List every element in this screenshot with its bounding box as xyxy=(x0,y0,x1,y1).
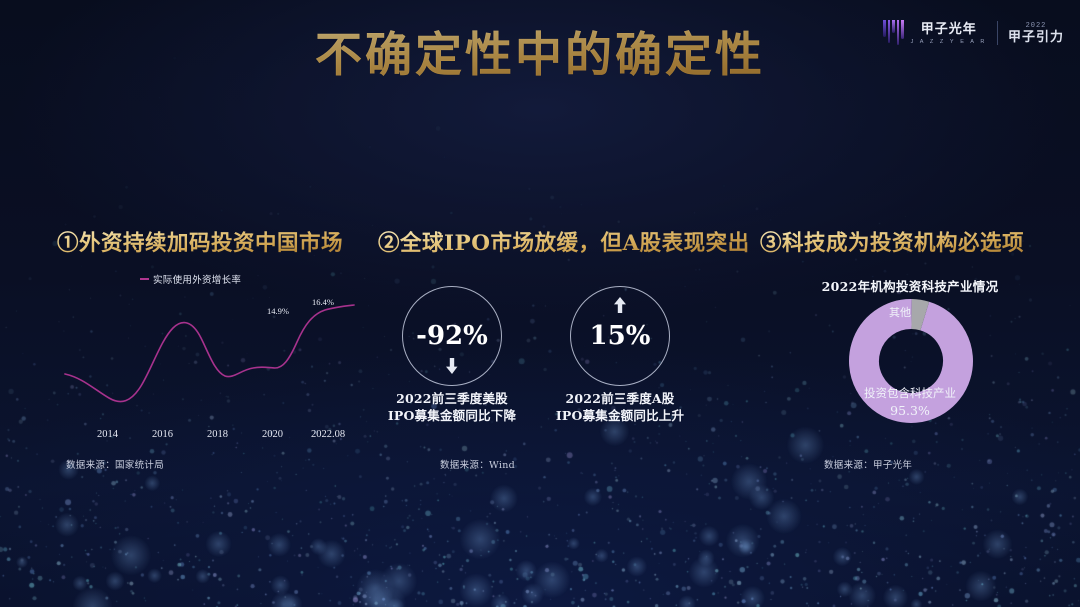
brand-logo: 甲子光年 J A Z Z Y E A R 2022 甲子引力 xyxy=(883,16,1064,50)
event-year: 2022 xyxy=(1026,22,1047,30)
brand-name-cn: 甲子光年 xyxy=(921,22,977,37)
stat-caption-a-share-line1: 2022前三季度A股 xyxy=(520,390,720,407)
x-tick-2020: 2020 xyxy=(262,429,283,440)
donut-label-percent: 95.3% xyxy=(850,403,970,418)
x-tick-2016: 2016 xyxy=(152,429,173,440)
x-tick-2022-08: 2022.08 xyxy=(311,429,345,440)
donut-label-main: 投资包含科技产业 xyxy=(835,385,985,401)
event-logo: 2022 甲子引力 xyxy=(1008,22,1064,45)
panel-ipo-market: -92% 2022前三季度美股 IPO募集金额同比下降 15% 2022前三季度… xyxy=(378,262,733,477)
x-tick-2014: 2014 xyxy=(97,429,118,440)
section-heading-3: ③科技成为投资机构必选项 xyxy=(760,226,1024,257)
stat-caption-a-share-line2: IPO募集金额同比上升 xyxy=(520,407,720,424)
x-tick-2018: 2018 xyxy=(207,429,228,440)
stat-circle-a-share: 15% xyxy=(570,286,670,386)
section-heading-1: ①外资持续加码投资中国市场 xyxy=(57,226,343,257)
donut-chart-title: 2022年机构投资科技产业情况 xyxy=(760,276,1060,295)
brand-name: 甲子光年 J A Z Z Y E A R xyxy=(911,22,987,45)
annotation-14-9: 14.9% xyxy=(267,306,289,316)
chart-legend: 实际使用外资增长率 xyxy=(140,272,241,286)
line-chart xyxy=(57,286,362,431)
source-note-1: 数据来源：国家统计局 xyxy=(66,457,164,471)
event-name: 甲子引力 xyxy=(1008,30,1064,45)
donut-label-other: 其他 xyxy=(870,304,930,320)
stat-circle-outline-us: -92% xyxy=(402,286,502,386)
arrow-down-icon xyxy=(446,358,459,374)
source-note-2: 数据来源：Wind xyxy=(440,457,515,471)
section-heading-2: ②全球IPO市场放缓，但A股表现突出 xyxy=(378,226,750,257)
legend-label: 实际使用外资增长率 xyxy=(153,272,241,286)
stat-caption-a-share: 2022前三季度A股 IPO募集金额同比上升 xyxy=(520,390,720,424)
stat-value-a-share: 15% xyxy=(590,321,651,351)
panel-tech-investment: 2022年机构投资科技产业情况 其他 投资包含科技产业 95.3% xyxy=(760,262,1060,477)
arrow-up-icon xyxy=(614,297,627,313)
stat-circle-us: -92% xyxy=(402,286,502,386)
brand-name-en: J A Z Z Y E A R xyxy=(911,39,987,45)
panel-foreign-investment: 实际使用外资增长率 14.9% 16.4% 2014 2016 2018 202… xyxy=(57,262,362,477)
equalizer-bars-icon xyxy=(883,20,904,46)
legend-line-swatch xyxy=(140,278,149,280)
stat-circle-outline-a-share: 15% xyxy=(570,286,670,386)
stat-value-us: -92% xyxy=(416,321,488,351)
source-note-3: 数据来源：甲子光年 xyxy=(824,457,912,471)
logo-divider xyxy=(997,21,998,45)
annotation-16-4: 16.4% xyxy=(312,297,334,307)
